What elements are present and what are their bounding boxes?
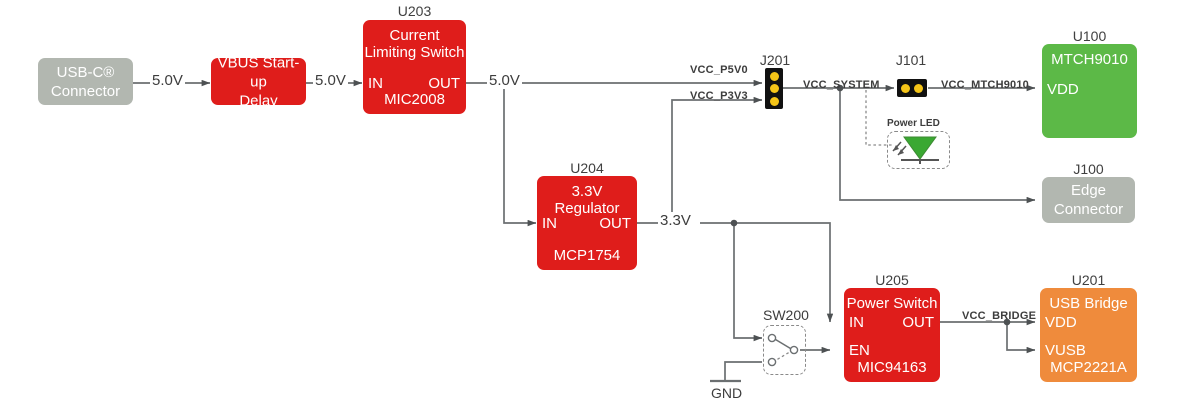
- vbus-delay-line2: Delay: [239, 92, 277, 109]
- header-j201[interactable]: [765, 68, 783, 109]
- u205-pin-in: IN: [849, 314, 864, 331]
- j201-pad-1[interactable]: [770, 72, 779, 81]
- net-5v0-c: 5.0V: [487, 72, 522, 89]
- u203-pin-out: OUT: [428, 75, 460, 92]
- u205-title: Power Switch: [844, 295, 940, 312]
- u204-pin-in: IN: [542, 215, 557, 232]
- u203-line2: Limiting Switch: [364, 44, 464, 61]
- net-5v0-a: 5.0V: [150, 72, 185, 89]
- usb-c-line1: USB-C®: [57, 64, 115, 81]
- u205-part: MIC94163: [844, 359, 940, 376]
- usb-c-text: USB-C® Connector: [38, 63, 133, 101]
- j201-pad-3[interactable]: [770, 97, 779, 106]
- j101-pad-1[interactable]: [901, 84, 910, 93]
- wire-3v3-to-sw200: [734, 223, 762, 338]
- refdes-u205: U205: [844, 272, 940, 288]
- block-usb-c-connector[interactable]: USB-C® Connector: [38, 58, 133, 105]
- junction-3v3: [731, 220, 738, 227]
- vbus-delay-line1: VBUS Start-up: [218, 54, 300, 90]
- refdes-u201: U201: [1040, 272, 1137, 288]
- u203-line1: Current: [389, 27, 439, 44]
- block-vbus-startup-delay[interactable]: VBUS Start-up Delay: [211, 58, 306, 105]
- block-diagram-canvas: USB-C® Connector VBUS Start-up Delay U20…: [0, 0, 1200, 414]
- wire-sw200-to-gnd: [725, 362, 762, 381]
- u205-pin-en: EN: [849, 342, 870, 359]
- edge-connector-line2: Connector: [1054, 201, 1123, 218]
- u100-title: MTCH9010: [1042, 51, 1137, 68]
- block-edge-connector[interactable]: Edge Connector: [1042, 177, 1135, 223]
- edge-connector-line1: Edge: [1071, 182, 1106, 199]
- u201-pin-vusb: VUSB: [1045, 342, 1086, 359]
- net-vcc-bridge: VCC_BRIDGE: [962, 310, 1036, 322]
- net-3v3: 3.3V: [658, 212, 693, 229]
- u100-pin-vdd: VDD: [1047, 81, 1079, 98]
- usb-c-line2: Connector: [51, 83, 120, 100]
- wire-bridge-vusb: [1007, 322, 1035, 350]
- refdes-u204: U204: [537, 160, 637, 176]
- refdes-j101: J101: [892, 52, 930, 68]
- net-vcc-mtch9010: VCC_MTCH9010: [941, 79, 1029, 91]
- u203-pin-in: IN: [368, 75, 383, 92]
- u203-part: MIC2008: [363, 91, 466, 108]
- u201-title: USB Bridge: [1040, 295, 1137, 312]
- vbus-delay-text: VBUS Start-up Delay: [211, 53, 306, 110]
- wire-3v3-to-j201: [672, 100, 762, 223]
- u204-part: MCP1754: [537, 247, 637, 264]
- u201-part: MCP2221A: [1040, 359, 1137, 376]
- u205-pin-out: OUT: [902, 314, 934, 331]
- block-current-limiting-switch[interactable]: Current Limiting Switch IN OUT MIC2008: [363, 20, 466, 114]
- net-5v0-b: 5.0V: [313, 72, 348, 89]
- refdes-u203: U203: [363, 3, 466, 19]
- sw200-box[interactable]: [763, 325, 806, 375]
- j101-pad-2[interactable]: [914, 84, 923, 93]
- block-3v3-regulator[interactable]: 3.3V Regulator IN OUT MCP1754: [537, 176, 637, 270]
- refdes-j201: J201: [756, 52, 794, 68]
- net-vcc-p3v3: VCC_P3V3: [690, 90, 748, 102]
- edge-connector-text: Edge Connector: [1042, 181, 1135, 219]
- refdes-j100: J100: [1042, 161, 1135, 177]
- j201-pad-2[interactable]: [770, 84, 779, 93]
- power-led-label: Power LED: [887, 118, 940, 129]
- block-power-switch[interactable]: Power Switch IN OUT EN MIC94163: [844, 288, 940, 382]
- u203-title: Current Limiting Switch: [363, 27, 466, 61]
- gnd-label: GND: [711, 385, 742, 401]
- net-vcc-system: VCC_SYSTEM: [803, 79, 880, 91]
- block-mtch9010[interactable]: MTCH9010 VDD: [1042, 44, 1137, 138]
- u201-pin-vdd: VDD: [1045, 314, 1077, 331]
- block-usb-bridge[interactable]: USB Bridge VDD VUSB MCP2221A: [1040, 288, 1137, 382]
- net-vcc-p5v0: VCC_P5V0: [690, 64, 748, 76]
- wire-5v-branch-to-u204: [504, 83, 536, 223]
- u204-title: 3.3V Regulator: [537, 183, 637, 217]
- u204-pin-out: OUT: [599, 215, 631, 232]
- refdes-u100: U100: [1042, 28, 1137, 44]
- power-led-box[interactable]: [887, 131, 950, 169]
- refdes-sw200: SW200: [763, 307, 809, 323]
- header-j101[interactable]: [897, 79, 927, 97]
